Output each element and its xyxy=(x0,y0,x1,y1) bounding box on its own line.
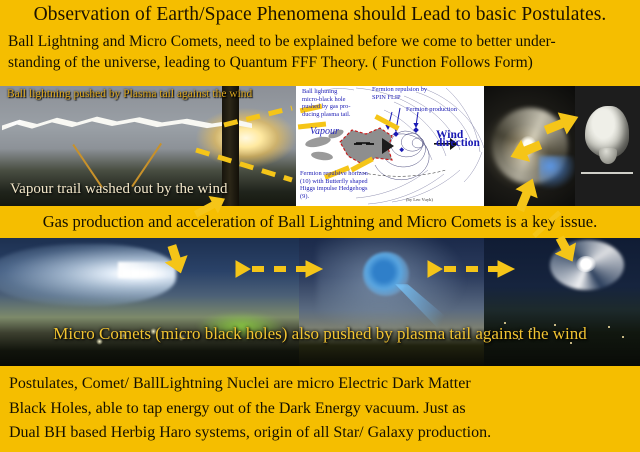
mid-statement-text: Gas production and acceleration of Ball … xyxy=(43,212,597,232)
night-comet-plume-photo xyxy=(0,238,299,366)
diagram-label-vapour: Vapour xyxy=(310,128,339,136)
galaxy-core xyxy=(576,256,596,272)
intro-paragraph: Ball Lightning and Micro Comets, need to… xyxy=(8,31,632,73)
diagram-label-spinflip: Fermion repulsion by SPIN FLIP xyxy=(372,86,427,101)
lightning-bolt-shape xyxy=(2,112,252,138)
intro-line-2: standing of the universe, leading to Qua… xyxy=(8,52,632,73)
physics-diagram: Ball lightning micro-black hole pushed b… xyxy=(296,86,484,206)
lightning-caption-bottom: Vapour trail washed out by the wind xyxy=(10,181,227,198)
diagram-label-fermion-production: Fermion production xyxy=(406,106,457,114)
page-title: Observation of Earth/Space Phenomena sho… xyxy=(34,4,607,26)
diagram-label-topleft: Ball lightning micro-black hole pushed b… xyxy=(302,88,350,118)
ball-lightning-photo: Ball lightning pushed by Plasma tail aga… xyxy=(0,86,296,206)
slide-title: Observation of Earth/Space Phenomena sho… xyxy=(0,0,640,30)
particle-stem xyxy=(599,148,617,164)
lightning-caption-top: Ball lightning pushed by Plasma tail aga… xyxy=(7,88,252,100)
galaxy-over-city-photo xyxy=(484,238,640,366)
sem-micrograph-photo xyxy=(575,86,640,206)
diagram-label-horizon: Fermion repulsive horizon (10) with Butt… xyxy=(300,170,368,200)
footer-line-3: Dual BH based Herbig Haro systems, origi… xyxy=(9,421,631,446)
mid-statement-band: Gas production and acceleration of Ball … xyxy=(0,206,640,238)
green-ground-glow xyxy=(196,312,286,340)
footer-statement: Postulates, Comet/ BallLightning Nuclei … xyxy=(0,366,640,452)
spiral-core xyxy=(520,136,536,152)
blue-comet-photo xyxy=(299,238,484,366)
blue-plasma-glow xyxy=(539,156,575,190)
diagram-credit: (by Leo Vuyk) xyxy=(406,196,433,204)
slide-root: Observation of Earth/Space Phenomena sho… xyxy=(0,0,640,452)
intro-line-1: Ball Lightning and Micro Comets, need to… xyxy=(8,31,632,52)
spiral-vortex-photo xyxy=(484,86,575,206)
top-image-row: Ball lightning pushed by Plasma tail aga… xyxy=(0,86,640,206)
comet-jet xyxy=(118,262,180,278)
bottom-image-row: Micro Comets (micro black holes) also pu… xyxy=(0,238,640,366)
scale-bar xyxy=(581,172,633,174)
diagram-label-wind-direction: Wind direction xyxy=(436,132,480,147)
footer-line-2: Black Holes, able to tap energy out of t… xyxy=(9,397,631,422)
footer-line-1: Postulates, Comet/ BallLightning Nuclei … xyxy=(9,372,631,397)
